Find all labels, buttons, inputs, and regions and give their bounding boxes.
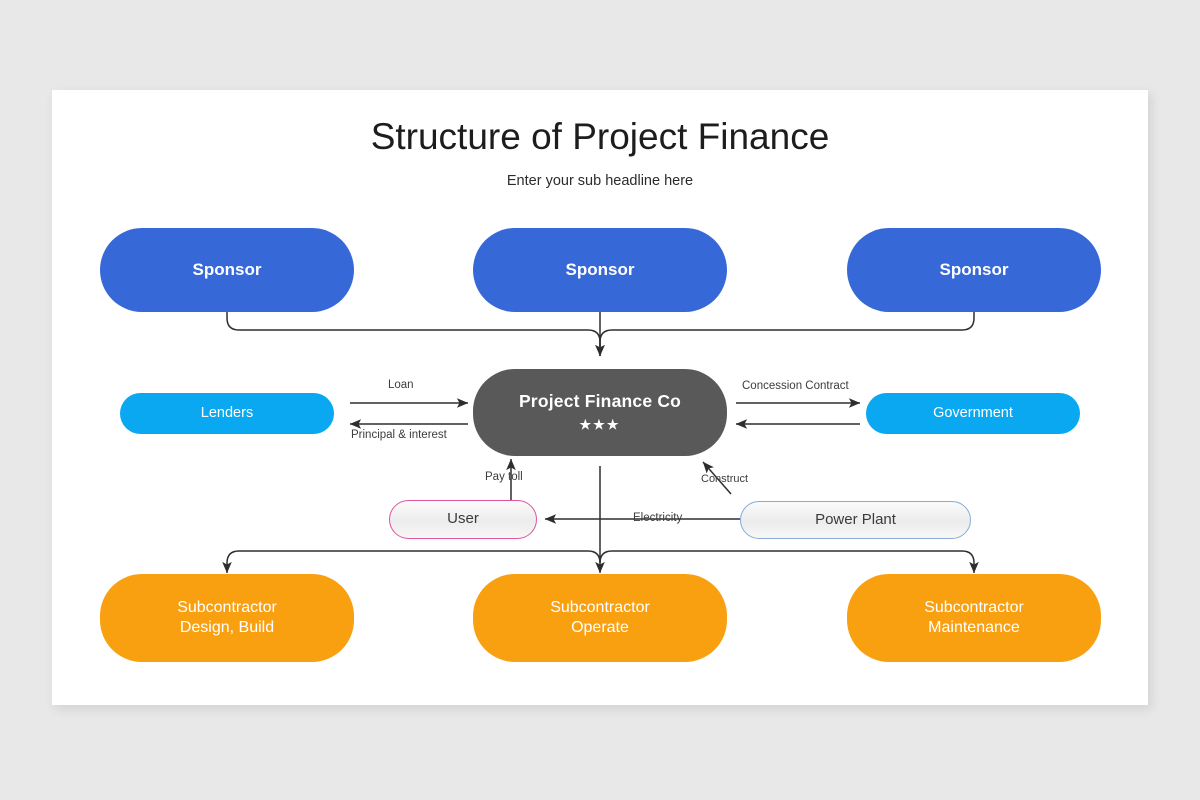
node-sponsor-center[interactable]: Sponsor (473, 228, 727, 312)
node-power-plant-label: Power Plant (815, 511, 896, 530)
edge-label-concession-contract: Concession Contract (742, 380, 849, 392)
node-subcontractor-maintenance-line1: Subcontractor (924, 599, 1024, 616)
edge-label-construct: Construct (701, 473, 748, 485)
node-subcontractor-design-line2: Design, Build (180, 619, 274, 636)
edge-label-electricity: Electricity (633, 512, 682, 524)
node-sponsor-center-label: Sponsor (566, 259, 635, 280)
page-subtitle: Enter your sub headline here (0, 173, 1200, 189)
node-subcontractor-maintenance-line2: Maintenance (928, 619, 1020, 636)
edge-label-loan: Loan (388, 379, 414, 391)
node-sponsor-right[interactable]: Sponsor (847, 228, 1101, 312)
node-power-plant[interactable]: Power Plant (740, 501, 971, 539)
node-subcontractor-design-line1: Subcontractor (177, 599, 277, 616)
edge-label-pay-toll: Pay toll (485, 471, 523, 483)
node-sponsor-left-label: Sponsor (193, 259, 262, 280)
node-project-finance-co[interactable]: Project Finance Co ★★★ (473, 369, 727, 456)
node-sponsor-left[interactable]: Sponsor (100, 228, 354, 312)
node-subcontractor-operate[interactable]: Subcontractor Operate (473, 574, 727, 662)
node-user[interactable]: User (389, 500, 537, 539)
node-subcontractor-operate-line1: Subcontractor (550, 599, 650, 616)
node-lenders-label: Lenders (201, 404, 253, 422)
node-project-finance-co-title: Project Finance Co (519, 391, 681, 413)
edge-label-principal-interest: Principal & interest (351, 429, 447, 441)
node-government[interactable]: Government (866, 393, 1080, 434)
rating-stars: ★★★ (580, 417, 621, 433)
node-subcontractor-design-build[interactable]: Subcontractor Design, Build (100, 574, 354, 662)
node-sponsor-right-label: Sponsor (940, 259, 1009, 280)
node-subcontractor-maintenance[interactable]: Subcontractor Maintenance (847, 574, 1101, 662)
page-title: Structure of Project Finance (0, 116, 1200, 158)
node-subcontractor-operate-line2: Operate (571, 619, 629, 636)
diagram-canvas: Structure of Project Finance Enter your … (0, 0, 1200, 800)
node-government-label: Government (933, 404, 1013, 422)
node-user-label: User (447, 510, 479, 529)
node-lenders[interactable]: Lenders (120, 393, 334, 434)
